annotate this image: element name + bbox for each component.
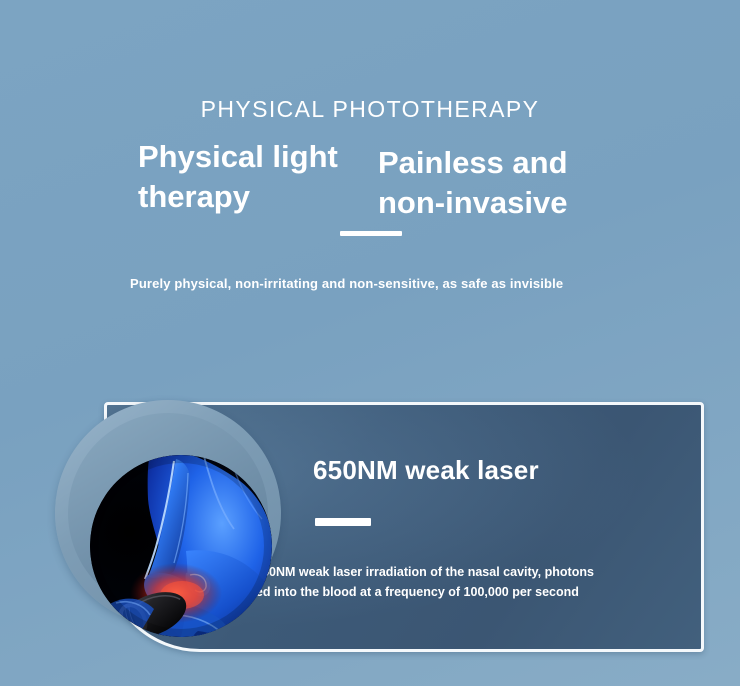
promo-banner: PHYSICAL PHOTOTHERAPY Physical light the… bbox=[0, 0, 740, 686]
headline-right-line-2: non-invasive bbox=[378, 183, 606, 223]
headline-left-line-2: therapy bbox=[138, 177, 360, 217]
panel-description-line-2: are injected into the blood at a frequen… bbox=[201, 582, 641, 602]
medallion-outer-ring bbox=[55, 400, 281, 626]
nasal-laser-illustration bbox=[90, 455, 272, 637]
headline-right-line-1: Painless and bbox=[378, 143, 606, 183]
panel-divider-rule bbox=[315, 518, 371, 526]
hero-tagline: Purely physical, non-irritating and non-… bbox=[130, 276, 650, 291]
headline-left: Physical light therapy bbox=[138, 137, 360, 216]
eyebrow-heading: PHYSICAL PHOTOTHERAPY bbox=[0, 96, 740, 123]
headline-right: Painless and non-invasive bbox=[378, 137, 606, 222]
headline-row: Physical light therapy Painless and non-… bbox=[138, 137, 608, 222]
medallion-inner-ring bbox=[68, 413, 268, 613]
headline-divider-rule bbox=[340, 231, 402, 236]
headline-left-line-1: Physical light bbox=[138, 137, 360, 177]
panel-title: 650NM weak laser bbox=[313, 455, 539, 486]
nasal-laser-photo bbox=[90, 455, 272, 637]
hero-section: PHYSICAL PHOTOTHERAPY Physical light the… bbox=[0, 0, 740, 400]
